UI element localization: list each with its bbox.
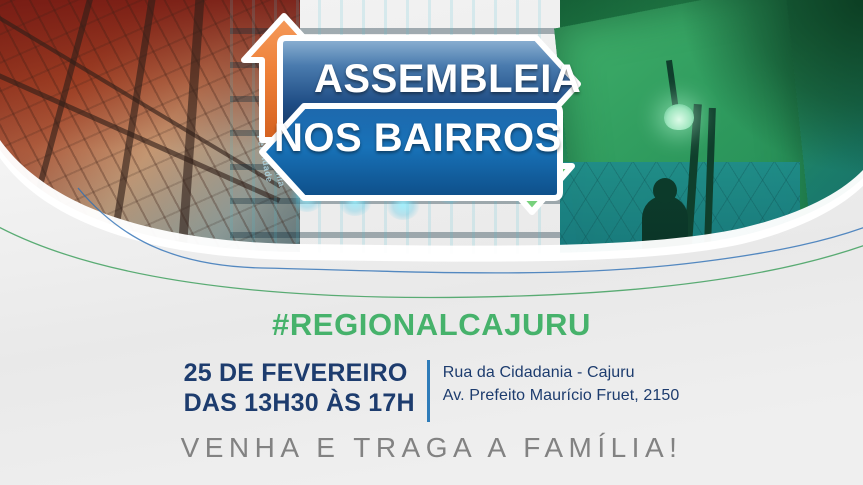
four-direction-arrow-graphic xyxy=(236,8,604,220)
event-time: DAS 13H30 ÀS 17H xyxy=(184,388,415,418)
event-address: Rua da Cidadania - Cajuru Av. Prefeito M… xyxy=(430,358,680,407)
event-datetime: 25 DE FEVEREIRO DAS 13H30 ÀS 17H xyxy=(184,358,427,418)
event-date: 25 DE FEVEREIRO xyxy=(184,358,415,388)
address-line-1: Rua da Cidadania - Cajuru xyxy=(443,361,680,384)
logo-text-assembleia: ASSEMBLEIA xyxy=(314,57,581,102)
event-details: 25 DE FEVEREIRO DAS 13H30 ÀS 17H Rua da … xyxy=(0,358,863,422)
address-line-2: Av. Prefeito Maurício Fruet, 2150 xyxy=(443,384,680,407)
assembleia-nos-bairros-logo: ASSEMBLEIA NOS BAIRROS xyxy=(236,8,604,220)
hashtag-regional: #REGIONALCAJURU xyxy=(0,307,863,343)
tagline: VENHA E TRAGA A FAMÍLIA! xyxy=(0,432,863,464)
logo-text-nos-bairros: NOS BAIRROS xyxy=(274,116,562,161)
event-banner: a Cidadania Felicidade xyxy=(0,0,863,485)
